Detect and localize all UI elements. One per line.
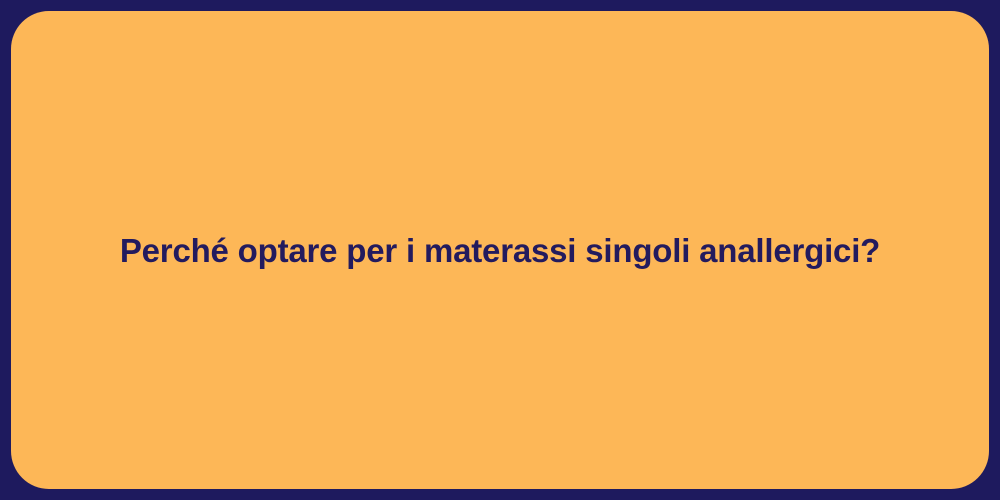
card-frame: Perché optare per i materassi singoli an… <box>0 0 1000 500</box>
heading-container: Perché optare per i materassi singoli an… <box>51 230 949 271</box>
page-title: Perché optare per i materassi singoli an… <box>51 230 949 271</box>
card-panel: Perché optare per i materassi singoli an… <box>11 11 989 489</box>
